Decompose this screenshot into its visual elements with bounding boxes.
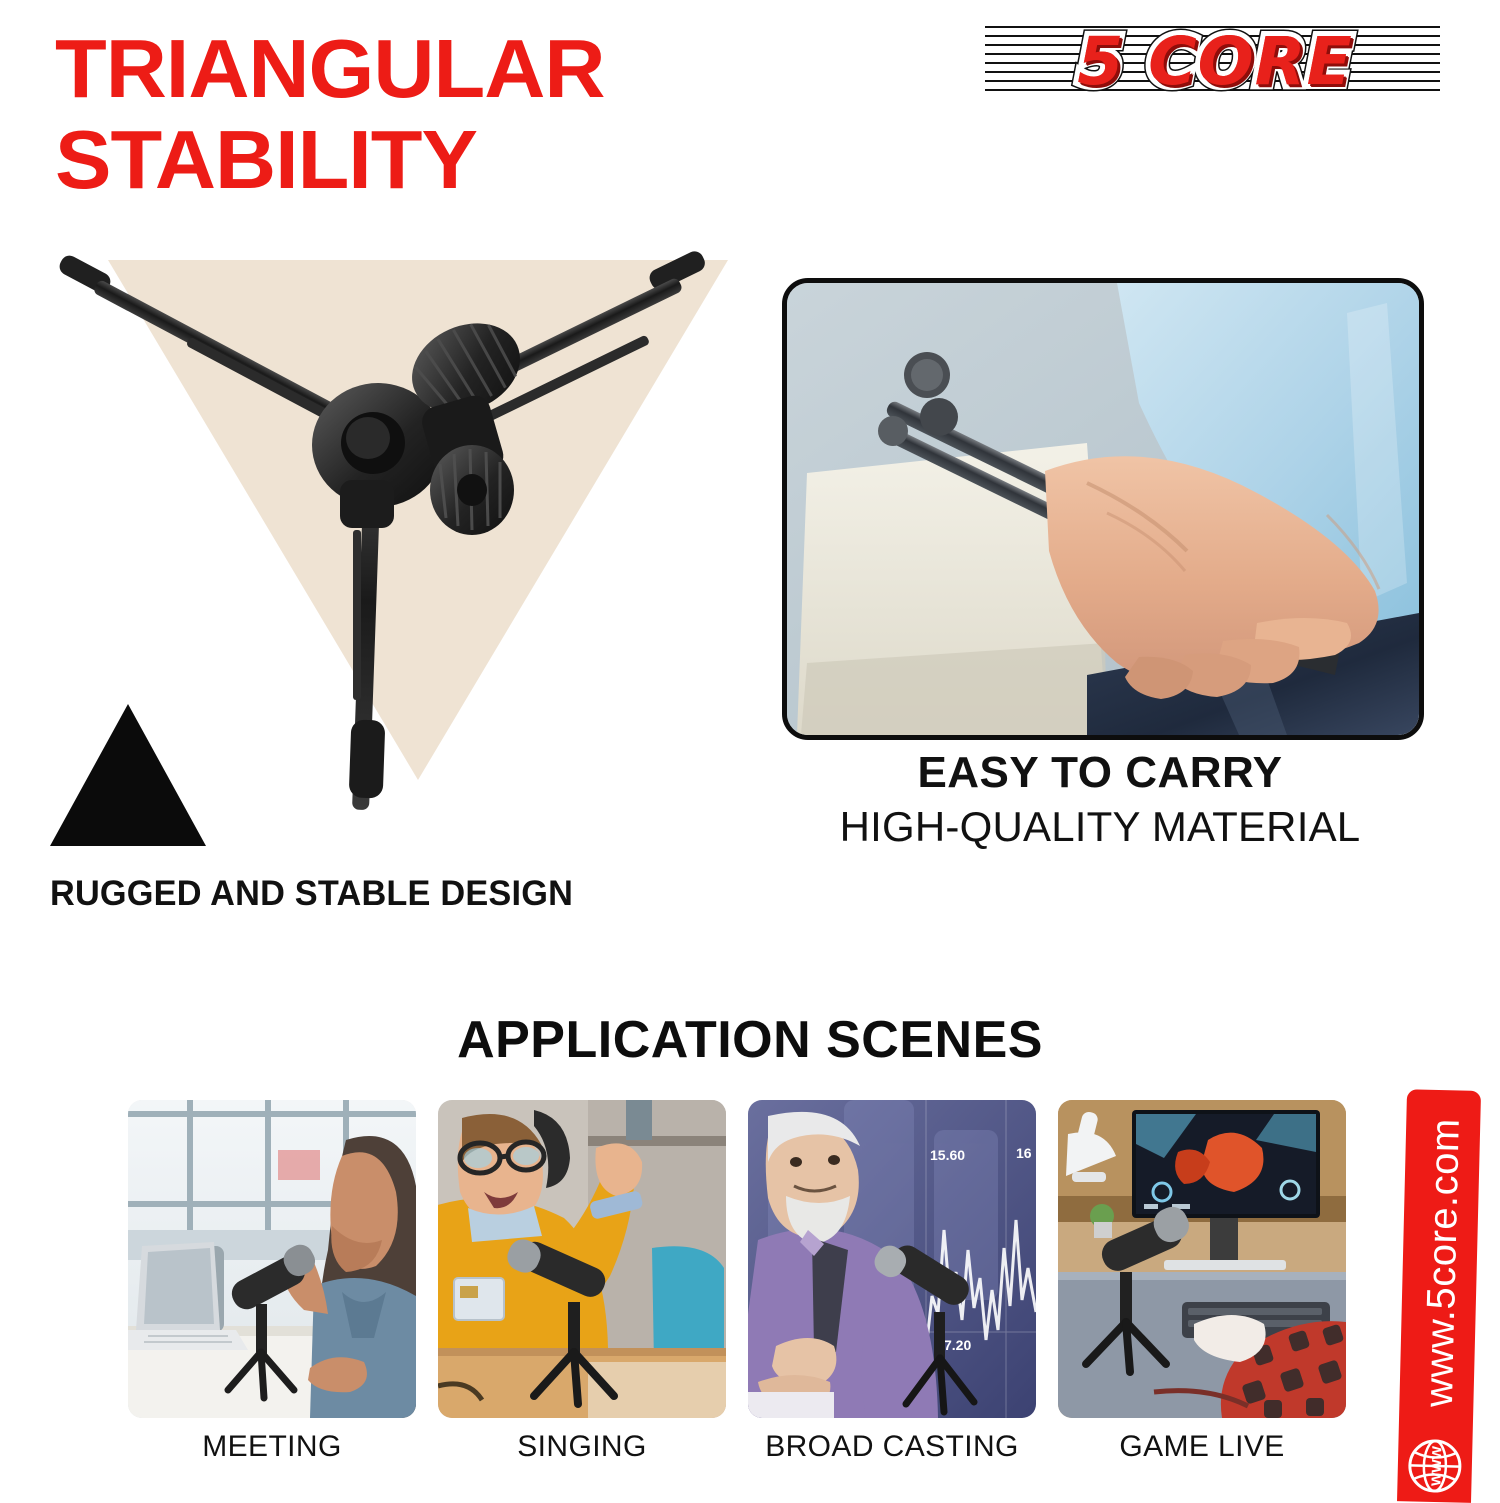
hand-carrying-tripod-illustration — [787, 283, 1419, 735]
website-url: www.5core.com — [1415, 1089, 1470, 1463]
scene-thumb-game-live — [1058, 1100, 1346, 1418]
scene-thumb-broadcasting: 15.60 16 7.20 — [748, 1100, 1036, 1418]
scene-label: BROAD CASTING — [765, 1430, 1019, 1464]
scene-thumb-meeting — [128, 1100, 416, 1418]
meeting-scene-illustration — [128, 1100, 416, 1418]
game-live-scene-illustration — [1058, 1100, 1346, 1418]
right-feature-subtitle: HIGH-QUALITY MATERIAL — [770, 803, 1430, 851]
website-banner[interactable]: www.5core.com www — [1397, 1089, 1481, 1503]
logo-wordmark: 5 CORE 5 CORE 5 CORE — [1055, 20, 1375, 104]
chart-high-label: 15.60 — [930, 1147, 965, 1163]
tension-knob-side — [430, 445, 514, 535]
scene-card-broadcasting: 15.60 16 7.20 — [748, 1100, 1036, 1495]
chart-low-label: 7.20 — [944, 1337, 971, 1353]
scenes-section-title: APPLICATION SCENES — [0, 1010, 1500, 1070]
product-infographic: TRIANGULAR STABILITY 5 CORE 5 CORE 5 COR… — [0, 0, 1500, 1500]
scene-thumb-singing — [438, 1100, 726, 1418]
broadcasting-scene-illustration: 15.60 16 7.20 — [748, 1100, 1036, 1418]
tripod-leg-left — [56, 252, 358, 434]
scene-card-meeting: MEETING — [128, 1100, 416, 1495]
easy-to-carry-photo — [782, 278, 1424, 740]
logo-text: 5 CORE — [1055, 22, 1375, 102]
brand-logo: 5 CORE 5 CORE 5 CORE — [985, 16, 1440, 108]
chart-high-label-2: 16 — [1016, 1145, 1032, 1161]
scene-label: MEETING — [202, 1430, 341, 1464]
singing-scene-illustration — [438, 1100, 726, 1418]
scene-label: GAME LIVE — [1119, 1430, 1284, 1464]
scene-card-game-live: GAME LIVE — [1058, 1100, 1346, 1495]
right-feature-title: EASY TO CARRY — [782, 748, 1418, 798]
tripod-hub — [312, 383, 444, 528]
left-feature-caption: RUGGED AND STABLE DESIGN — [50, 874, 573, 914]
page-title: TRIANGULAR STABILITY — [55, 28, 851, 201]
globe-www-icon: www — [1406, 1437, 1463, 1494]
scene-card-singing: SINGING — [438, 1100, 726, 1495]
scenes-row: MEETING — [128, 1100, 1380, 1495]
svg-text:www: www — [1425, 1445, 1445, 1487]
headline-line-1: TRIANGULAR — [55, 28, 851, 109]
headline-line-2: STABILITY — [55, 119, 851, 200]
triangle-icon — [48, 702, 208, 848]
scene-label: SINGING — [517, 1430, 646, 1464]
